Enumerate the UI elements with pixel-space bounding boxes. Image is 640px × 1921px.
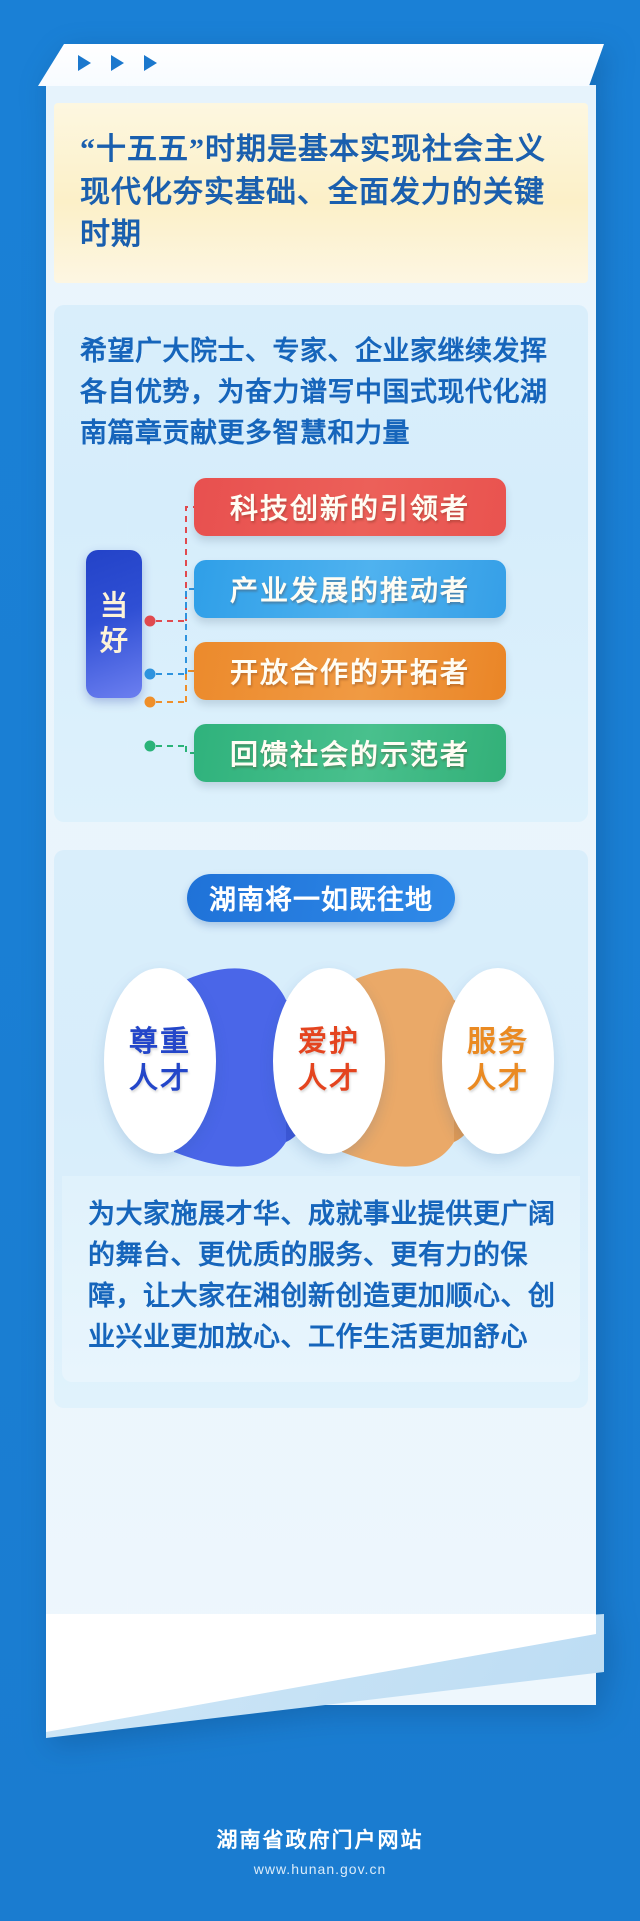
page-footer: 湖南省政府门户网站 www.hunan.gov.cn (0, 1751, 640, 1921)
card-content: “十五五”时期是基本实现社会主义现代化夯实基础、全面发力的关键时期 希望广大院士… (46, 85, 596, 1408)
talent-title-pill: 湖南将一如既往地 (187, 874, 455, 922)
play-triangle-icon (144, 55, 157, 71)
talent-card-serve[interactable]: 服务 人才 (442, 968, 554, 1154)
play-triangle-icon (111, 55, 124, 71)
talent-card-line1: 服务 (467, 1024, 529, 1061)
infographic-card: “十五五”时期是基本实现社会主义现代化夯实基础、全面发力的关键时期 希望广大院士… (38, 44, 604, 1734)
role-bar-industry-promoter[interactable]: 产业发展的推动者 (194, 560, 506, 618)
roles-bar-list: 科技创新的引领者 产业发展的推动者 开放合作的开拓者 回馈社会的示范者 (194, 478, 506, 806)
connector-lines (142, 478, 202, 792)
role-bar-openness-pioneer[interactable]: 开放合作的开拓者 (194, 642, 506, 700)
talent-section: 湖南将一如既往地 尊重 人才 (54, 850, 588, 1408)
danghao-char-1: 当 (100, 589, 128, 624)
danghao-label: 当 好 (86, 550, 142, 698)
role-bar-label: 产业发展的推动者 (230, 569, 470, 609)
expectation-section: 希望广大院士、专家、企业家继续发挥各自优势，为奋力谱写中国式现代化湖南篇章贡献更… (54, 305, 588, 822)
role-bar-innovation-leader[interactable]: 科技创新的引领者 (194, 478, 506, 536)
page-background: “十五五”时期是基本实现社会主义现代化夯实基础、全面发力的关键时期 希望广大院士… (0, 0, 640, 1921)
talent-card-line2: 人才 (129, 1061, 191, 1098)
card-top-banner (38, 44, 604, 86)
talent-cards-row: 尊重 人才 爱护 人才 服务 人才 (54, 946, 588, 1176)
expectation-lead-text: 希望广大院士、专家、企业家继续发挥各自优势，为奋力谱写中国式现代化湖南篇章贡献更… (80, 331, 564, 454)
talent-card-line1: 尊重 (129, 1024, 191, 1061)
roles-diagram: 当 好 (80, 478, 564, 792)
footer-url[interactable]: www.hunan.gov.cn (254, 1861, 386, 1877)
talent-card-line1: 爱护 (298, 1024, 360, 1061)
talent-card-respect[interactable]: 尊重 人才 (104, 968, 216, 1154)
footer-site-name: 湖南省政府门户网站 (217, 1824, 424, 1854)
role-bar-label: 回馈社会的示范者 (230, 733, 470, 773)
arrow-icon-group (78, 55, 157, 71)
role-bar-label: 科技创新的引领者 (230, 487, 470, 527)
role-bar-society-model[interactable]: 回馈社会的示范者 (194, 724, 506, 782)
talent-closing-block: 为大家施展才华、成就事业提供更广阔的舞台、更优质的服务、更有力的保障，让大家在湘… (62, 1176, 580, 1382)
talent-title-text: 湖南将一如既往地 (209, 878, 433, 917)
play-triangle-icon (78, 55, 91, 71)
danghao-char-2: 好 (100, 624, 128, 659)
headline-quote-text: “十五五”时期是基本实现社会主义现代化夯实基础、全面发力的关键时期 (80, 129, 564, 257)
headline-quote-block: “十五五”时期是基本实现社会主义现代化夯实基础、全面发力的关键时期 (54, 103, 588, 283)
talent-card-line2: 人才 (467, 1061, 529, 1098)
talent-card-line2: 人才 (298, 1061, 360, 1098)
talent-closing-text: 为大家施展才华、成就事业提供更广阔的舞台、更优质的服务、更有力的保障，让大家在湘… (88, 1194, 556, 1358)
role-bar-label: 开放合作的开拓者 (230, 651, 470, 691)
talent-card-care[interactable]: 爱护 人才 (273, 968, 385, 1154)
